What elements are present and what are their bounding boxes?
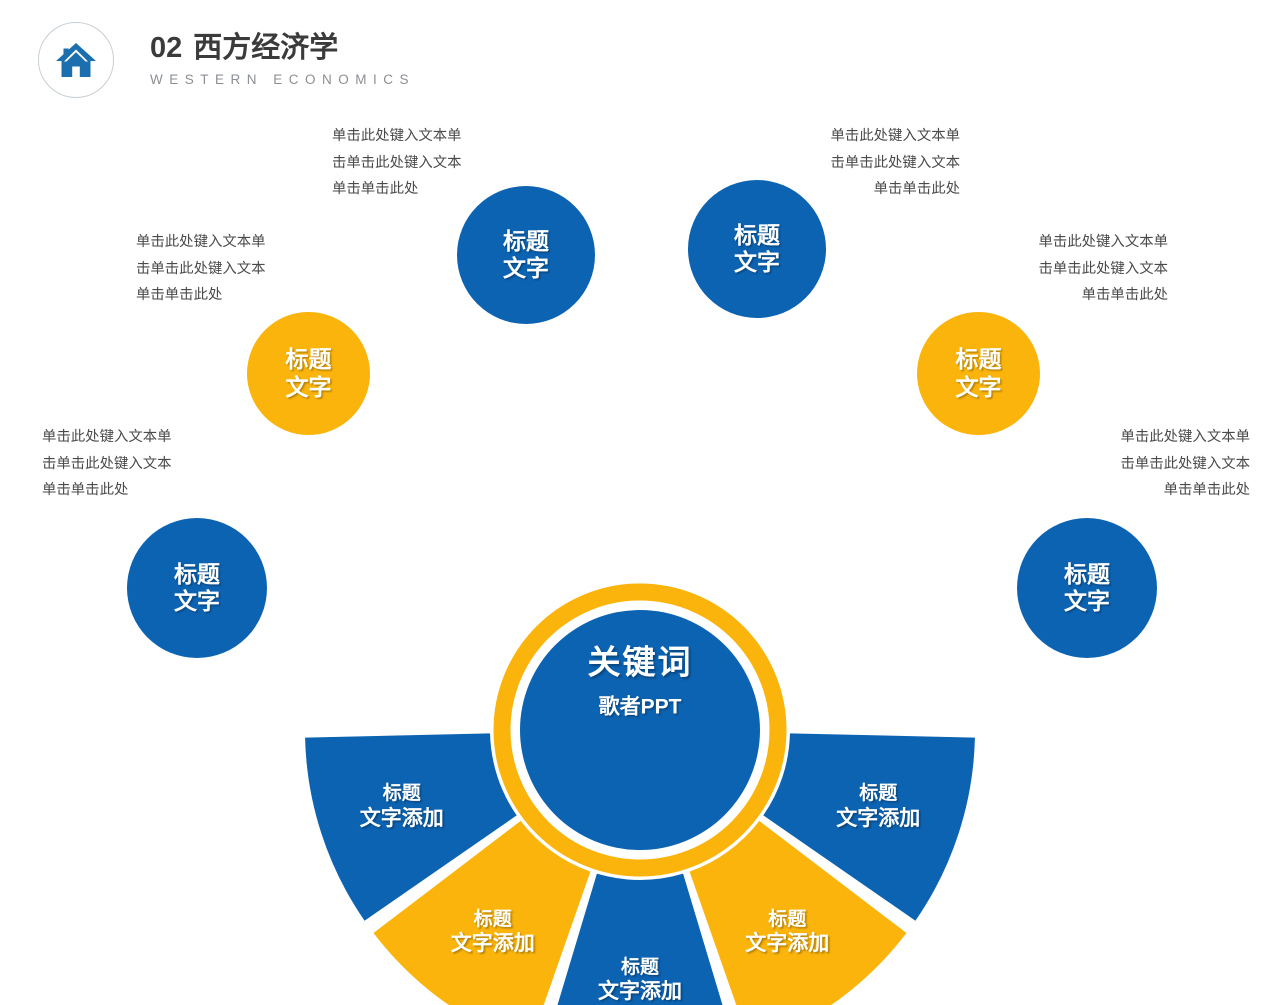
header-text-block: 02西方经济学 WESTERN ECONOMICS: [150, 33, 415, 87]
center-keyword-label: 关键词 歌者PPT: [588, 636, 693, 721]
bubble-line1: 标题: [734, 222, 780, 249]
page-title-text: 西方经济学: [193, 32, 338, 64]
segment-label-top[interactable]: 标题 文字添加: [598, 957, 682, 1005]
page-subtitle: WESTERN ECONOMICS: [150, 72, 415, 87]
bubble-line1: 标题: [1064, 561, 1110, 588]
house-icon: [54, 40, 98, 80]
segment-line1: 标题: [598, 957, 682, 980]
page-number: 02: [150, 32, 182, 64]
bubble-line1: 标题: [503, 228, 549, 255]
bubble-line2: 文字: [734, 249, 780, 276]
bubble-line1: 标题: [174, 561, 220, 588]
bubble-top-right-inner[interactable]: 标题 文字: [688, 180, 826, 318]
description-bottom-right: 单击此处键入文本单 击单击此处键入文本 单击单击此处: [1088, 424, 1250, 504]
center-source: 歌者PPT: [588, 691, 693, 721]
segment-line2: 文字添加: [836, 806, 920, 831]
segment-line1: 标题: [745, 909, 829, 932]
description-middle-left: 单击此处键入文本单 击单击此处键入文本 单击单击此处: [136, 229, 296, 309]
segment-line1: 标题: [360, 783, 444, 806]
segment-line2: 文字添加: [451, 931, 535, 956]
segment-line1: 标题: [451, 909, 535, 932]
description-bottom-left: 单击此处键入文本单 击单击此处键入文本 单击单击此处: [42, 424, 202, 504]
bubble-line2: 文字: [503, 255, 549, 282]
bubble-bottom-left[interactable]: 标题 文字: [127, 518, 267, 658]
center-keyword: 关键词: [588, 636, 693, 684]
page-title: 02西方经济学: [150, 33, 415, 63]
segment-label-right-inner[interactable]: 标题 文字添加: [745, 909, 829, 957]
description-top-left: 单击此处键入文本单 击单击此处键入文本 单击单击此处: [332, 123, 492, 203]
fan-wheel-diagram: 标题 文字添加 标题 文字添加 标题 文字添加 标题 文字添加 标题 文字添加 …: [305, 330, 975, 730]
segment-label-left-outer[interactable]: 标题 文字添加: [360, 783, 444, 831]
segment-line2: 文字添加: [745, 931, 829, 956]
description-top-right: 单击此处键入文本单 击单击此处键入文本 单击单击此处: [798, 123, 960, 203]
bubble-line2: 文字: [1064, 588, 1110, 615]
logo-badge: [38, 22, 114, 98]
segment-label-right-outer[interactable]: 标题 文字添加: [836, 783, 920, 831]
description-middle-right: 单击此处键入文本单 击单击此处键入文本 单击单击此处: [1006, 229, 1168, 309]
slide-canvas: 02西方经济学 WESTERN ECONOMICS 单击此处键入文本单 击单击此…: [0, 0, 1280, 720]
bubble-line2: 文字: [174, 588, 220, 615]
segment-label-left-inner[interactable]: 标题 文字添加: [451, 909, 535, 957]
slide-header: 02西方经济学 WESTERN ECONOMICS: [38, 22, 415, 98]
segment-line2: 文字添加: [360, 806, 444, 831]
segment-line1: 标题: [836, 783, 920, 806]
bubble-bottom-right[interactable]: 标题 文字: [1017, 518, 1157, 658]
segment-line2: 文字添加: [598, 979, 682, 1004]
bubble-top-left-inner[interactable]: 标题 文字: [457, 186, 595, 324]
